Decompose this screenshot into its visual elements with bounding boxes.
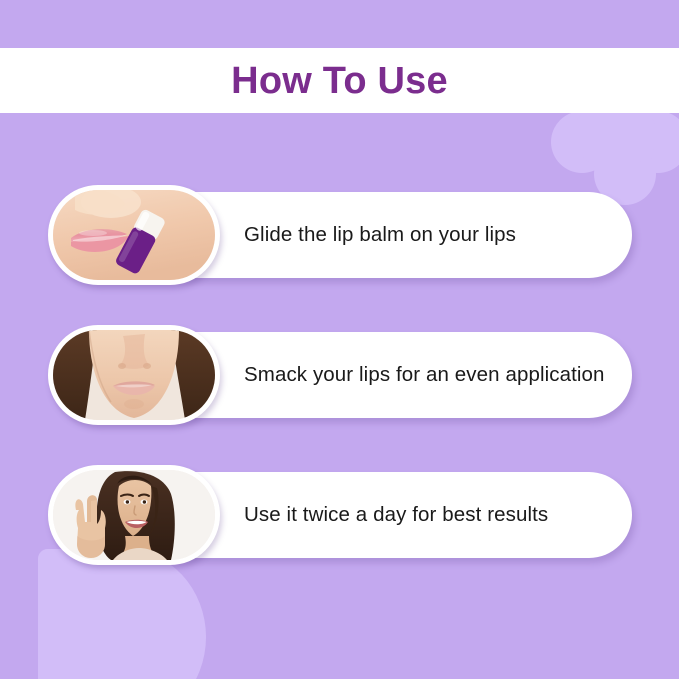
- smacking-lips-photo: [53, 330, 215, 420]
- lip-balm-application-photo: [53, 190, 215, 280]
- how-to-use-infographic: How To Use: [0, 0, 679, 679]
- step-text-3: Use it twice a day for best results: [244, 503, 548, 527]
- step-card-1: Glide the lip balm on your lips: [52, 192, 632, 278]
- peace-sign-smile-photo: [53, 470, 215, 560]
- step-card-3: Use it twice a day for best results: [52, 472, 632, 558]
- step-thumbnail-1: [48, 185, 220, 285]
- step-thumbnail-3: [48, 465, 220, 565]
- steps-list: Glide the lip balm on your lips: [0, 0, 679, 679]
- step-text-1: Glide the lip balm on your lips: [244, 223, 516, 247]
- step-thumbnail-2: [48, 325, 220, 425]
- step-text-2: Smack your lips for an even application: [244, 363, 605, 387]
- step-card-2: Smack your lips for an even application: [52, 332, 632, 418]
